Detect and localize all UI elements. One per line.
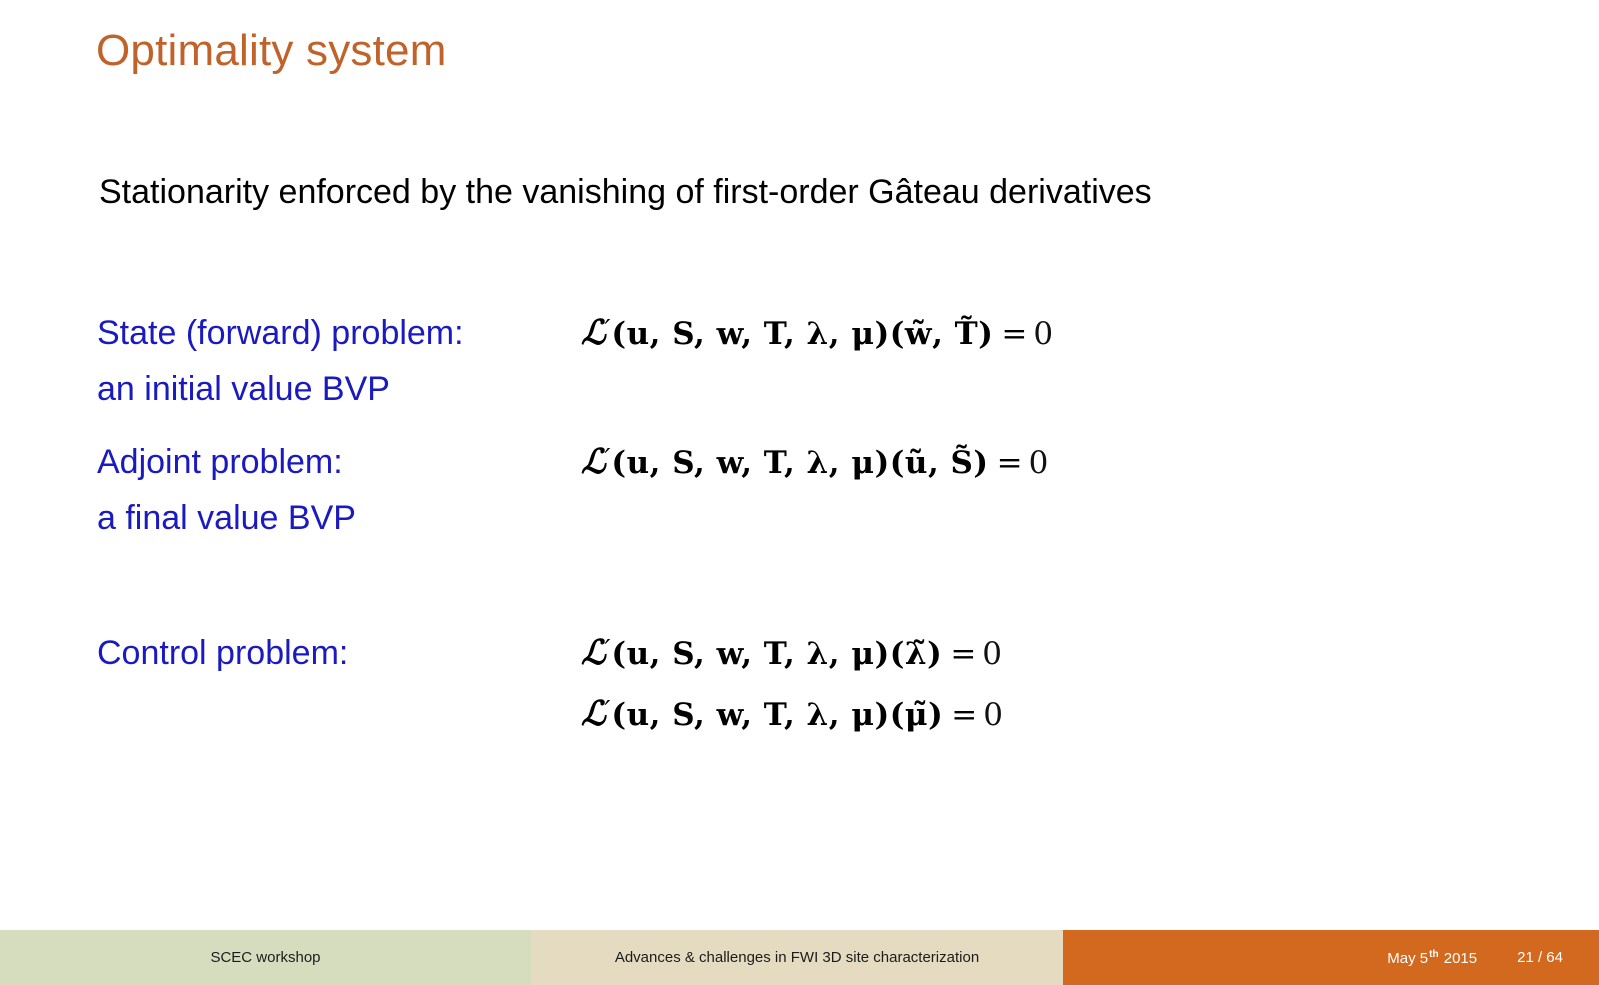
block-state-label-line2: an initial value BVP: [97, 372, 464, 406]
equation-rhs: 0: [982, 636, 1002, 672]
equals-sign: =: [950, 636, 976, 672]
lagrangian-symbol: ℒ: [581, 442, 605, 482]
page-title: Optimality system: [96, 26, 447, 76]
equation-control-1: ℒ′(u, S, w, T, λ, μ)(λ̃)=0: [581, 636, 1003, 670]
footer-event-name: SCEC workshop: [0, 930, 531, 985]
footer-date: May 5th 2015: [1387, 949, 1477, 967]
equals-sign: =: [997, 445, 1023, 481]
block-state-equations: ℒ′(u, S, w, T, λ, μ)(w̃, T̃)=0: [581, 316, 1053, 350]
prime-symbol: ′: [605, 635, 611, 665]
equation-arguments: (u, S, w, T, λ, μ): [611, 445, 889, 481]
block-adjoint-equations: ℒ′(u, S, w, T, λ, μ)(ũ, S̃)=0: [581, 445, 1048, 479]
equation-rhs: 0: [1029, 445, 1049, 481]
equation-directions: (μ̃): [890, 697, 944, 733]
block-control-label-line1: Control problem:: [97, 634, 348, 672]
equation-arguments: (u, S, w, T, λ, μ): [611, 697, 889, 733]
equation-state-1: ℒ′(u, S, w, T, λ, μ)(w̃, T̃)=0: [581, 316, 1053, 350]
intro-statement: Stationarity enforced by the vanishing o…: [99, 173, 1152, 212]
equation-arguments: (u, S, w, T, λ, μ): [611, 316, 889, 352]
equation-arguments: (u, S, w, T, λ, μ): [611, 636, 889, 672]
block-control-equations: ℒ′(u, S, w, T, λ, μ)(λ̃)=0 ℒ′(u, S, w, T…: [581, 636, 1003, 731]
prime-symbol: ′: [605, 696, 611, 726]
equals-sign: =: [1001, 316, 1027, 352]
lagrangian-symbol: ℒ: [581, 694, 605, 734]
equation-rhs: 0: [1033, 316, 1053, 352]
footer-bar: SCEC workshop Advances & challenges in F…: [0, 930, 1599, 985]
footer-date-ordinal: th: [1429, 949, 1438, 960]
prime-symbol: ′: [605, 444, 611, 474]
block-state-label: State (forward) problem: an initial valu…: [97, 316, 464, 406]
equation-rhs: 0: [983, 697, 1003, 733]
equation-directions: (λ̃): [890, 636, 943, 672]
block-adjoint-label-line1: Adjoint problem:: [97, 443, 343, 481]
equation-directions: (ũ, S̃): [890, 445, 989, 481]
lagrangian-symbol: ℒ: [581, 633, 605, 673]
footer-page-number: 21 / 64: [1517, 949, 1563, 966]
equation-directions: (w̃, T̃): [890, 316, 994, 352]
equation-control-2: ℒ′(u, S, w, T, λ, μ)(μ̃)=0: [581, 697, 1003, 731]
footer-meta: May 5th 2015 21 / 64: [1063, 930, 1599, 985]
footer-date-year: 2015: [1444, 950, 1477, 967]
lagrangian-symbol: ℒ: [581, 313, 605, 353]
block-adjoint-label: Adjoint problem: a final value BVP: [97, 445, 356, 535]
footer-presentation-title: Advances & challenges in FWI 3D site cha…: [531, 930, 1063, 985]
prime-symbol: ′: [605, 315, 611, 345]
footer-date-monthday: May 5: [1387, 950, 1428, 967]
block-adjoint-label-line2: a final value BVP: [97, 501, 356, 535]
equals-sign: =: [951, 697, 977, 733]
block-state-label-line1: State (forward) problem:: [97, 314, 464, 352]
block-control-label: Control problem:: [97, 636, 348, 670]
equation-adjoint-1: ℒ′(u, S, w, T, λ, μ)(ũ, S̃)=0: [581, 445, 1048, 479]
